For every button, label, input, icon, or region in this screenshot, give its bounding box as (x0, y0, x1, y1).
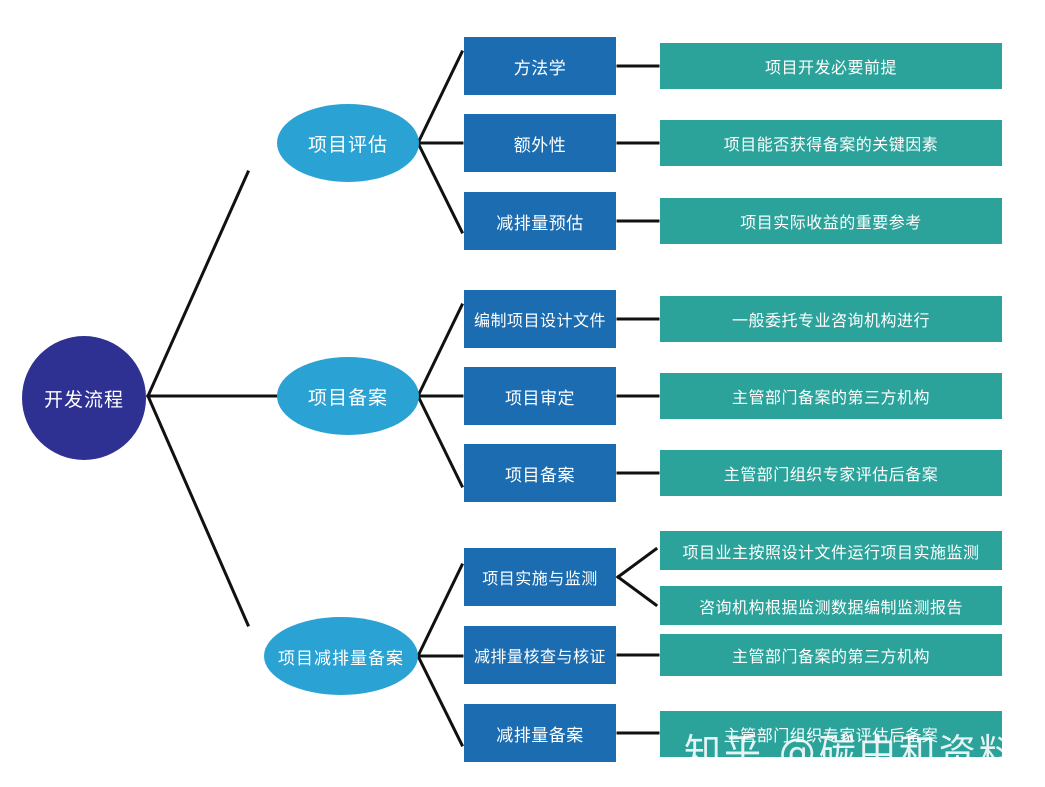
detail-box-label: 一般委托专业咨询机构进行 (732, 307, 930, 331)
branch-node-label: 项目评估 (308, 130, 388, 157)
detail-box[interactable]: 项目业主按照设计文件运行项目实施监测 (660, 531, 1002, 570)
detail-box[interactable]: 项目实际收益的重要参考 (660, 198, 1002, 244)
step-box[interactable]: 额外性 (464, 114, 616, 172)
detail-box-label: 主管部门备案的第三方机构 (732, 643, 930, 667)
detail-box[interactable]: 一般委托专业咨询机构进行 (660, 296, 1002, 342)
branch-node-project-assessment[interactable]: 项目评估 (277, 104, 419, 182)
branch-node-label: 项目备案 (308, 383, 388, 410)
step-box-label: 编制项目设计文件 (474, 307, 606, 331)
step-box-label: 减排量预估 (496, 209, 584, 234)
detail-box[interactable]: 主管部门组织专家评估后备案 (660, 711, 1002, 757)
step-box[interactable]: 项目审定 (464, 367, 616, 425)
detail-box-label: 主管部门备案的第三方机构 (732, 384, 930, 408)
detail-box[interactable]: 咨询机构根据监测数据编制监测报告 (660, 586, 1002, 625)
step-box-label: 额外性 (514, 131, 567, 156)
detail-box-label: 项目开发必要前提 (765, 54, 897, 78)
detail-box-label: 咨询机构根据监测数据编制监测报告 (699, 594, 963, 618)
step-box[interactable]: 方法学 (464, 37, 616, 95)
root-node[interactable]: 开发流程 (22, 336, 146, 460)
step-box[interactable]: 编制项目设计文件 (464, 290, 616, 348)
step-box-label: 项目备案 (505, 461, 575, 486)
detail-box[interactable]: 项目开发必要前提 (660, 43, 1002, 89)
branch-node-project-filing[interactable]: 项目备案 (277, 357, 419, 435)
step-box[interactable]: 减排量核查与核证 (464, 626, 616, 684)
detail-box-label: 主管部门组织专家评估后备案 (724, 461, 939, 485)
step-box-label: 方法学 (514, 54, 567, 79)
step-box[interactable]: 项目实施与监测 (464, 548, 616, 606)
detail-box[interactable]: 主管部门备案的第三方机构 (660, 373, 1002, 419)
detail-box[interactable]: 主管部门备案的第三方机构 (660, 634, 1002, 676)
detail-box[interactable]: 主管部门组织专家评估后备案 (660, 450, 1002, 496)
detail-box-label: 主管部门组织专家评估后备案 (724, 722, 939, 746)
detail-box[interactable]: 项目能否获得备案的关键因素 (660, 120, 1002, 166)
detail-box-label: 项目能否获得备案的关键因素 (724, 131, 939, 155)
branch-node-label: 项目减排量备案 (278, 644, 404, 669)
step-box-label: 项目实施与监测 (482, 565, 598, 589)
root-node-label: 开发流程 (44, 385, 124, 412)
step-box[interactable]: 项目备案 (464, 444, 616, 502)
step-box-label: 减排量核查与核证 (474, 643, 606, 667)
flowchart-canvas: 开发流程 项目评估 项目备案 项目减排量备案 方法学 额外性 减排量预估 项目开… (0, 0, 1045, 787)
step-box[interactable]: 减排量备案 (464, 704, 616, 762)
detail-box-label: 项目业主按照设计文件运行项目实施监测 (682, 539, 979, 563)
branch-node-emission-reduction-filing[interactable]: 项目减排量备案 (264, 617, 418, 695)
step-box[interactable]: 减排量预估 (464, 192, 616, 250)
step-box-label: 项目审定 (505, 384, 575, 409)
step-box-label: 减排量备案 (496, 721, 584, 746)
detail-box-label: 项目实际收益的重要参考 (740, 209, 922, 233)
